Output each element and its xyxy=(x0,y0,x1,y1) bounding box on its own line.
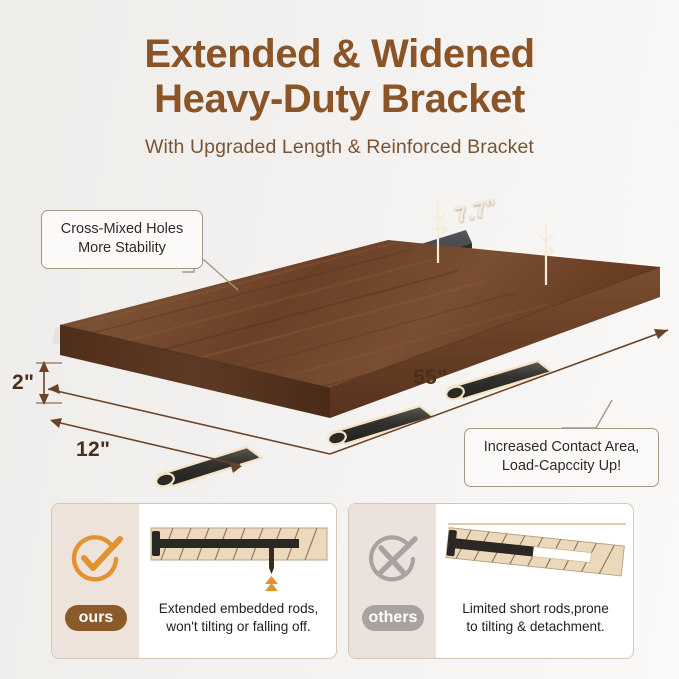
others-caption: Limited short rods,prone to tilting & de… xyxy=(438,600,633,636)
circle-check-icon xyxy=(68,530,124,586)
ours-content: Extended embedded rods, won't tilting or… xyxy=(139,504,337,658)
ours-caption-line-1: Extended embedded rods, xyxy=(141,600,336,618)
dimension-label-thickness: 2" xyxy=(12,371,34,395)
dimension-label-length: 55" xyxy=(413,366,447,390)
comparison-panel-ours: ours xyxy=(51,503,337,659)
others-badge-column: others xyxy=(349,504,436,658)
screw-icon xyxy=(269,548,274,574)
callout-load-line-1: Increased Contact Area, xyxy=(477,438,646,457)
ours-caption: Extended embedded rods, won't tilting or… xyxy=(141,600,336,636)
comparison-section: ours xyxy=(0,503,679,663)
callout-load-line-2: Load-Capccity Up! xyxy=(477,457,646,476)
ours-badge-column: ours xyxy=(52,504,139,658)
others-caption-line-2: to tilting & detachment. xyxy=(438,618,633,636)
callout-increased-contact-area: Increased Contact Area, Load-Capccity Up… xyxy=(464,428,659,487)
dimension-label-depth: 12" xyxy=(76,438,110,462)
others-rod-diagram xyxy=(436,510,634,594)
ours-caption-line-2: won't tilting or falling off. xyxy=(141,618,336,636)
title-line-2: Heavy-Duty Bracket xyxy=(0,77,679,122)
callout-holes-line-1: Cross-Mixed Holes xyxy=(54,220,190,239)
product-infographic: Extended & Widened Heavy-Duty Bracket Wi… xyxy=(0,0,679,679)
dimension-depth-arrow-left xyxy=(50,418,62,428)
callout-holes-line-2: More Stability xyxy=(54,239,190,258)
dimension-length-arrow-right xyxy=(654,329,668,339)
badge-ours: ours xyxy=(65,605,127,631)
callout-cross-mixed-holes: Cross-Mixed Holes More Stability xyxy=(41,210,203,269)
circle-x-icon xyxy=(365,530,421,586)
ours-rod-diagram xyxy=(139,510,337,594)
page-subtitle: With Upgraded Length & Reinforced Bracke… xyxy=(0,136,679,159)
wall-plate xyxy=(152,531,160,556)
title-line-1: Extended & Widened xyxy=(0,32,679,77)
others-content: Limited short rods,prone to tilting & de… xyxy=(436,504,634,658)
tilted-board xyxy=(446,528,624,576)
badge-others: others xyxy=(362,605,424,631)
page-title: Extended & Widened Heavy-Duty Bracket xyxy=(0,32,679,122)
comparison-panel-others: others xyxy=(348,503,634,659)
embedded-rod xyxy=(155,539,299,548)
others-caption-line-1: Limited short rods,prone xyxy=(438,600,633,618)
load-arrow-up-icon xyxy=(265,576,278,591)
